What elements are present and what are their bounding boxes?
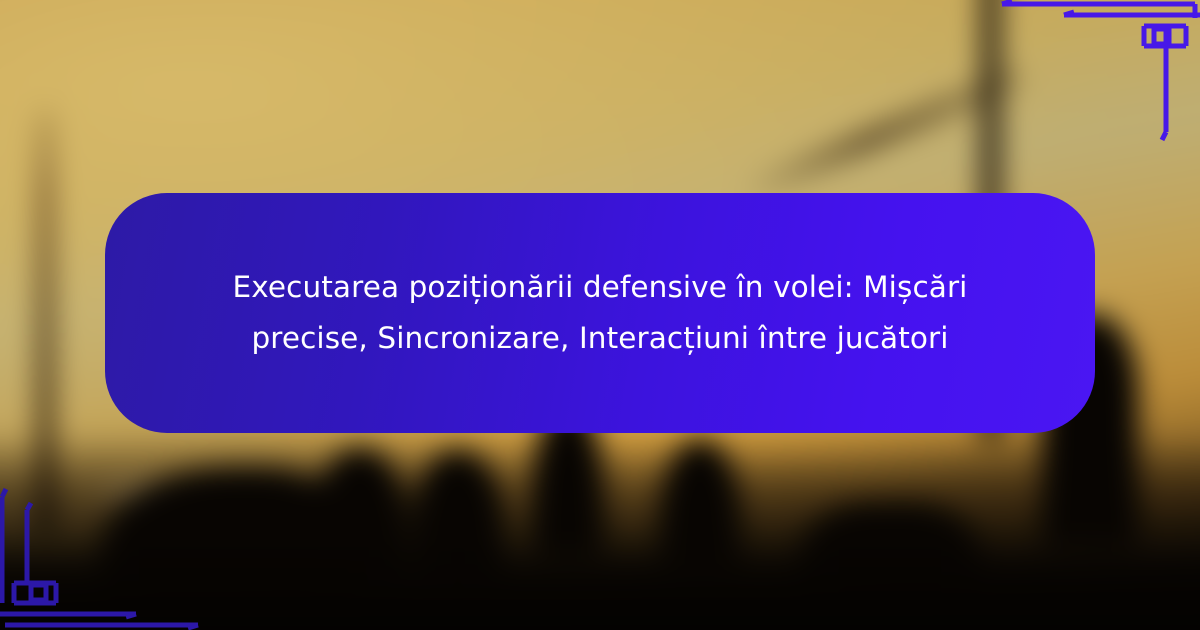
title-card: Executarea poziționării defensive în vol… xyxy=(105,193,1095,433)
corner-ornament-top-right xyxy=(990,0,1200,150)
share-card-canvas: Executarea poziționării defensive în vol… xyxy=(0,0,1200,630)
corner-ornament-bottom-left xyxy=(0,420,210,630)
page-title: Executarea poziționării defensive în vol… xyxy=(205,262,995,363)
